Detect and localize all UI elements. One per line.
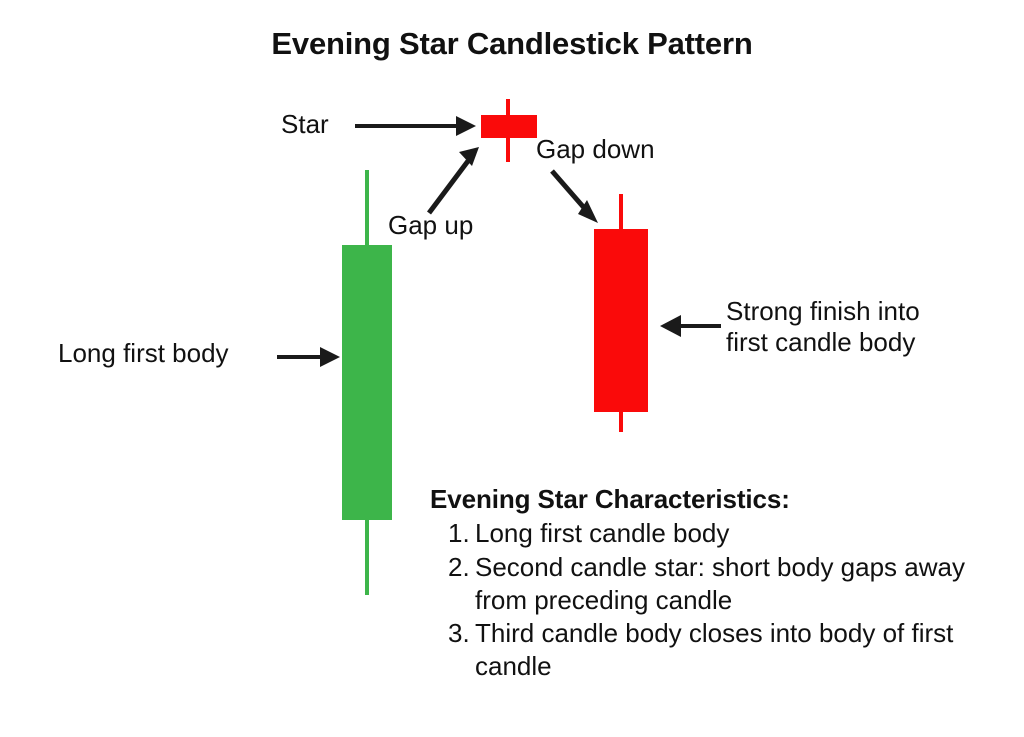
- list-item-text: Third candle body closes into body of fi…: [475, 617, 1010, 684]
- label-gap-up: Gap up: [388, 210, 473, 241]
- list-item: 3. Third candle body closes into body of…: [430, 617, 1010, 684]
- arrow-star: [355, 116, 476, 136]
- list-item: 2. Second candle star: short body gaps a…: [430, 551, 1010, 618]
- candle-first-body: [342, 245, 392, 520]
- characteristics-list: 1. Long first candle body 2. Second cand…: [430, 517, 1010, 683]
- arrow-long-first-body: [277, 347, 340, 367]
- characteristics-heading: Evening Star Characteristics:: [430, 483, 1010, 516]
- label-long-first-body: Long first body: [58, 338, 229, 369]
- list-item-number: 3.: [448, 617, 475, 650]
- arrow-gap-up: [429, 147, 479, 213]
- candle-first: [342, 170, 392, 595]
- arrow-gap-down: [552, 171, 598, 223]
- list-item-number: 2.: [448, 551, 475, 584]
- list-item-number: 1.: [448, 517, 475, 550]
- label-gap-down: Gap down: [536, 134, 655, 165]
- label-star: Star: [281, 109, 329, 140]
- candle-star: [481, 99, 537, 162]
- label-strong-finish: Strong finish into first candle body: [726, 296, 996, 357]
- list-item-text: Long first candle body: [475, 517, 1010, 550]
- diagram-canvas: Evening Star Candlestick Pattern: [0, 0, 1024, 737]
- candle-third-body: [594, 229, 648, 412]
- candle-star-body: [481, 115, 537, 138]
- label-strong-finish-line2: first candle body: [726, 327, 996, 358]
- characteristics-block: Evening Star Characteristics: 1. Long fi…: [430, 483, 1010, 684]
- arrow-strong-finish: [660, 315, 721, 337]
- list-item-text: Second candle star: short body gaps away…: [475, 551, 1010, 618]
- label-strong-finish-line1: Strong finish into: [726, 296, 996, 327]
- candle-third: [594, 194, 648, 432]
- list-item: 1. Long first candle body: [430, 517, 1010, 550]
